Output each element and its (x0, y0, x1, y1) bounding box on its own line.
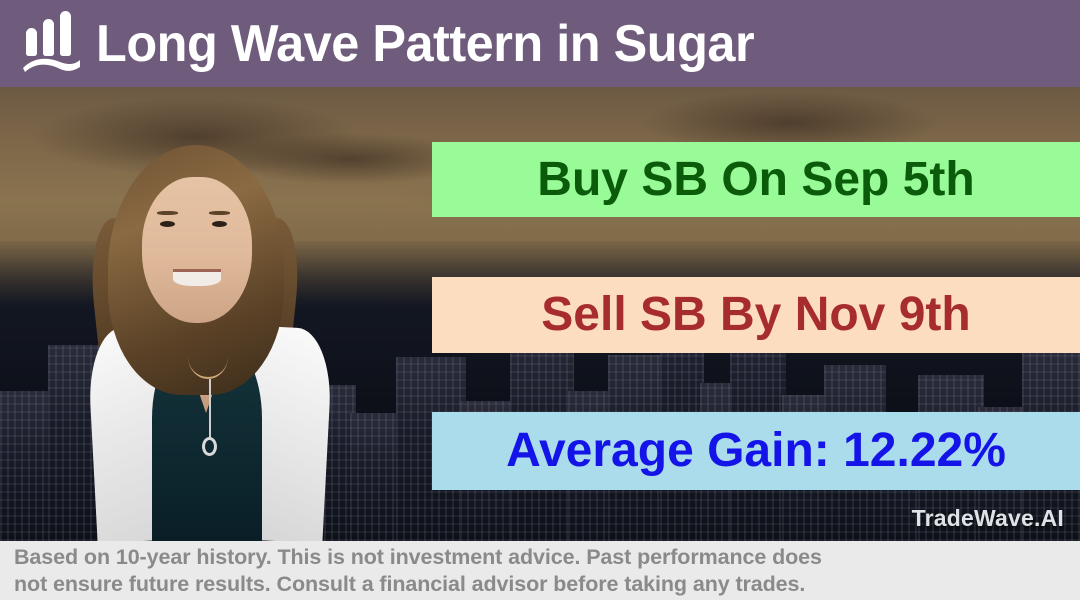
necklace-choker (188, 335, 228, 379)
eye-left (160, 221, 175, 227)
brand-watermark: TradeWave.AI (912, 505, 1064, 532)
disclaimer-line-2: not ensure future results. Consult a fin… (14, 571, 1068, 598)
necklace-pendant (202, 437, 217, 456)
smile (173, 269, 221, 286)
page-title: Long Wave Pattern in Sugar (96, 18, 754, 70)
average-gain-text: Average Gain: 12.22% (506, 427, 1006, 475)
disclaimer-footer: Based on 10-year history. This is not in… (0, 541, 1080, 600)
building (0, 391, 54, 541)
buy-signal-text: Buy SB On Sep 5th (537, 156, 974, 204)
eyebrow-left (157, 211, 178, 215)
bars-wave-logo-icon (22, 17, 84, 73)
eyebrow-right (209, 211, 230, 215)
disclaimer-line-1: Based on 10-year history. This is not in… (14, 544, 1068, 571)
necklace-chain (209, 379, 211, 439)
logo-bar-3 (60, 11, 71, 56)
eye-right (212, 221, 227, 227)
sell-signal-text: Sell SB By Nov 9th (541, 291, 970, 339)
average-gain-banner: Average Gain: 12.22% (432, 412, 1080, 490)
sell-signal-banner: Sell SB By Nov 9th (432, 277, 1080, 353)
buy-signal-banner: Buy SB On Sep 5th (432, 142, 1080, 217)
logo-wave-icon (22, 55, 82, 73)
presenter-photo (60, 121, 370, 541)
seasonal-trade-poster: Long Wave Pattern in Sugar (0, 0, 1080, 600)
logo-bar-1 (26, 28, 37, 56)
header-bar: Long Wave Pattern in Sugar (0, 0, 1080, 87)
face (142, 177, 252, 323)
logo-bar-2 (43, 19, 54, 56)
